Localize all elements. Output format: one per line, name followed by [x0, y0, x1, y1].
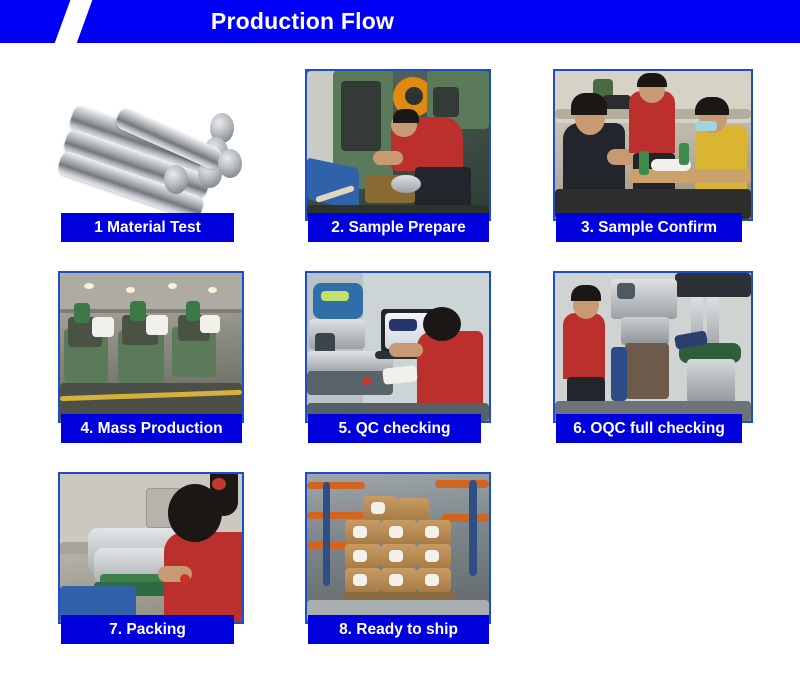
step-image-8 — [305, 472, 491, 624]
scene-sample-confirm — [555, 71, 751, 219]
step-card-6[interactable]: 6. OQC full checking — [553, 271, 783, 423]
scene-material-test — [58, 69, 244, 221]
step-image-3 — [553, 69, 753, 221]
step-image-5 — [305, 271, 491, 423]
page-header: Production Flow — [0, 0, 800, 43]
scene-packing — [60, 474, 242, 622]
step-card-8[interactable]: 8. Ready to ship — [305, 472, 535, 624]
scene-oqc-full-checking — [555, 273, 751, 421]
step-image-6 — [553, 271, 753, 423]
step-card-2[interactable]: 2. Sample Prepare — [305, 69, 535, 221]
step-caption-6: 6. OQC full checking — [556, 414, 742, 443]
step-card-5[interactable]: 5. QC checking — [305, 271, 535, 423]
page-title: Production Flow — [0, 0, 800, 43]
step-caption-3: 3. Sample Confirm — [556, 213, 742, 242]
scene-mass-production — [60, 273, 242, 421]
step-caption-7: 7. Packing — [61, 615, 234, 644]
step-card-1[interactable]: 1 Material Test — [58, 69, 288, 221]
step-caption-4: 4. Mass Production — [61, 414, 242, 443]
step-caption-1: 1 Material Test — [61, 213, 234, 242]
step-card-7[interactable]: 7. Packing — [58, 472, 288, 624]
step-image-7 — [58, 472, 244, 624]
scene-qc-checking — [307, 273, 489, 421]
step-card-3[interactable]: 3. Sample Confirm — [553, 69, 783, 221]
step-image-2 — [305, 69, 491, 221]
production-flow-page: { "header": { "title": "Production Flow"… — [0, 0, 800, 690]
scene-ready-to-ship — [307, 474, 489, 622]
step-caption-2: 2. Sample Prepare — [308, 213, 489, 242]
production-flow-grid: 1 Material Test — [0, 43, 800, 690]
step-image-4 — [58, 271, 244, 423]
step-caption-8: 8. Ready to ship — [308, 615, 489, 644]
step-card-4[interactable]: 4. Mass Production — [58, 271, 288, 423]
scene-sample-prepare — [307, 71, 489, 219]
step-caption-5: 5. QC checking — [308, 414, 481, 443]
step-image-1 — [58, 69, 244, 221]
